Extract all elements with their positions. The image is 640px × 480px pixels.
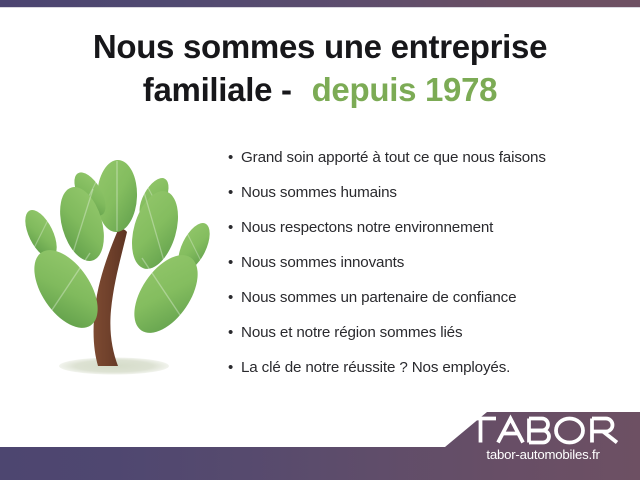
list-item: • Nous et notre région sommes liés xyxy=(228,323,628,358)
bullet-marker-icon: • xyxy=(228,288,241,308)
list-item: • Nous sommes un partenaire de confiance xyxy=(228,288,628,323)
slide-canvas: Nous sommes une entreprise familiale - d… xyxy=(0,0,640,480)
page-title: Nous sommes une entreprise familiale - d… xyxy=(0,26,640,112)
top-accent-hairline xyxy=(0,7,640,8)
bullet-marker-icon: • xyxy=(228,253,241,273)
list-item: • Nous respectons notre environnement xyxy=(228,218,628,253)
page-title-line-2: familiale - depuis 1978 xyxy=(0,69,640,112)
list-item-label: Nous sommes humains xyxy=(241,183,397,203)
list-item-label: Nous et notre région sommes liés xyxy=(241,323,462,343)
footer-banner-shape xyxy=(0,400,640,480)
bullet-marker-icon: • xyxy=(228,183,241,203)
value-proposition-list: • Grand soin apporté à tout ce que nous … xyxy=(228,148,628,393)
list-item: • La clé de notre réussite ? Nos employé… xyxy=(228,358,628,393)
bullet-marker-icon: • xyxy=(228,323,241,343)
list-item-label: Grand soin apporté à tout ce que nous fa… xyxy=(241,148,546,168)
bullet-marker-icon: • xyxy=(228,218,241,238)
list-item-label: Nous sommes un partenaire de confiance xyxy=(241,288,516,308)
tree-logo-illustration xyxy=(14,152,219,384)
top-accent-strip xyxy=(0,0,640,7)
page-title-line-2-black: familiale - xyxy=(143,71,301,108)
list-item-label: La clé de notre réussite ? Nos employés. xyxy=(241,358,510,378)
page-title-accent: depuis 1978 xyxy=(312,71,498,108)
bullet-marker-icon: • xyxy=(228,148,241,168)
page-title-line-1: Nous sommes une entreprise xyxy=(0,26,640,69)
footer-banner: tabor-automobiles.fr xyxy=(0,400,640,480)
list-item-label: Nous sommes innovants xyxy=(241,253,404,273)
list-item: • Grand soin apporté à tout ce que nous … xyxy=(228,148,628,183)
list-item: • Nous sommes innovants xyxy=(228,253,628,288)
list-item-label: Nous respectons notre environnement xyxy=(241,218,493,238)
list-item: • Nous sommes humains xyxy=(228,183,628,218)
bullet-marker-icon: • xyxy=(228,358,241,378)
